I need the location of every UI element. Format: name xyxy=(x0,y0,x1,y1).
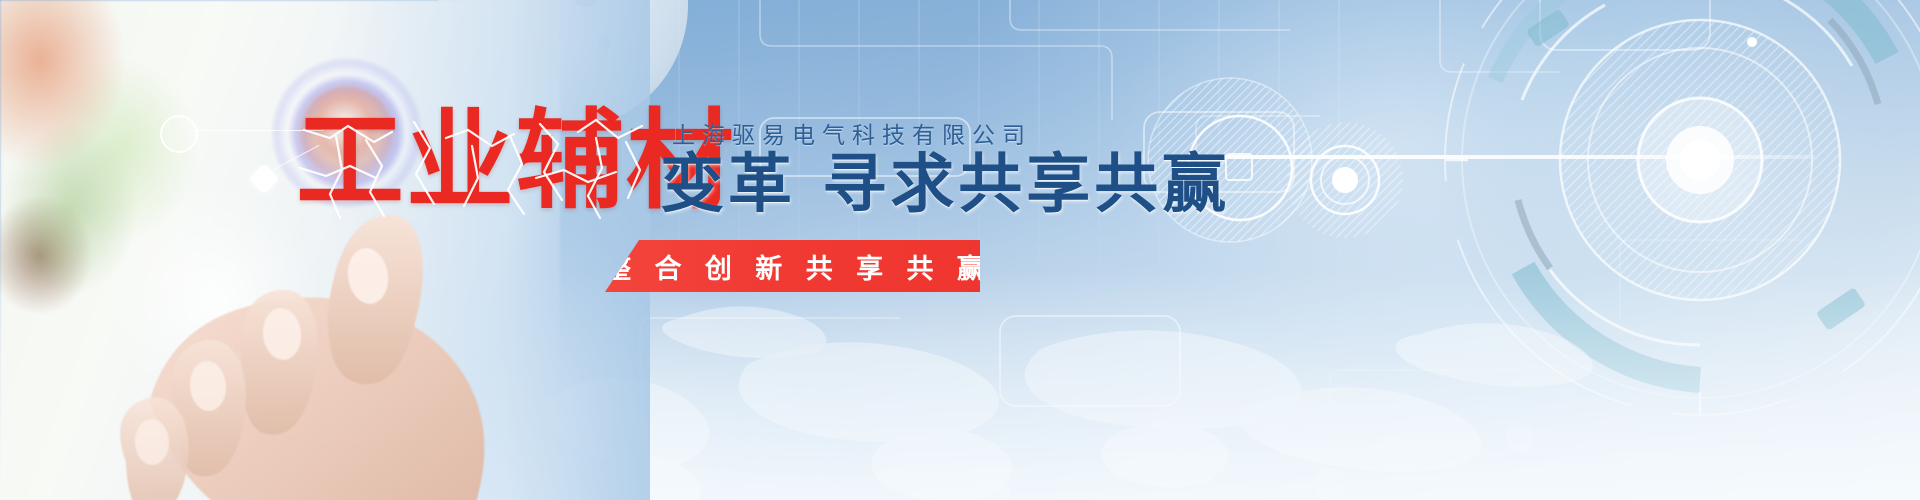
slogan-text: 变革 寻求共享共赢 xyxy=(660,152,1230,219)
ribbon-banner: 整 合 创 新 共 享 共 赢 xyxy=(605,240,980,292)
ribbon-label: 整 合 创 新 共 享 共 赢 xyxy=(594,247,991,286)
hud-hatched-circle-small xyxy=(1280,115,1410,245)
hero-banner: 工业辅材 上海驱易电气科技有限公司 变革 寻求共享共赢 整 xyxy=(0,0,1920,500)
hud-node-ring-icon xyxy=(160,115,198,153)
company-name: 上海驱易电气科技有限公司 xyxy=(672,116,1032,150)
hud-connector-line xyxy=(1195,155,1815,159)
